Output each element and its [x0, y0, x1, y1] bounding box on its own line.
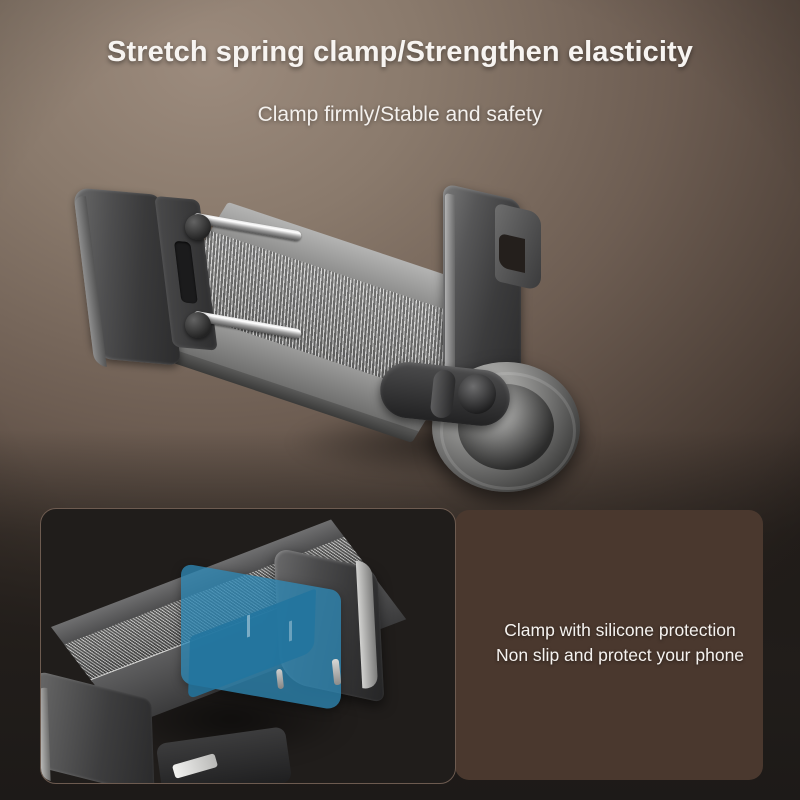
jaw-highlight-edge — [445, 193, 455, 391]
silicone-rib-right — [289, 620, 292, 641]
rod-knuckle-lower — [185, 312, 211, 338]
feature-callout-text: Clamp with silicone protection Non slip … — [455, 618, 785, 668]
silicone-rib-left — [247, 614, 250, 637]
jaw-notch — [499, 233, 525, 273]
product-marketing-banner: Stretch spring clamp/Strengthen elastici… — [0, 0, 800, 800]
rod-knuckle-upper — [185, 214, 211, 240]
subheadline: Clamp firmly/Stable and safety — [0, 103, 800, 127]
inset-closeup-panel — [40, 508, 456, 784]
hero-product-image — [80, 180, 700, 500]
callout-line-2: Non slip and protect your phone — [455, 643, 785, 668]
callout-line-1: Clamp with silicone protection — [455, 618, 785, 643]
headline: Stretch spring clamp/Strengthen elastici… — [0, 36, 800, 69]
left-clamp-arm — [70, 180, 225, 370]
